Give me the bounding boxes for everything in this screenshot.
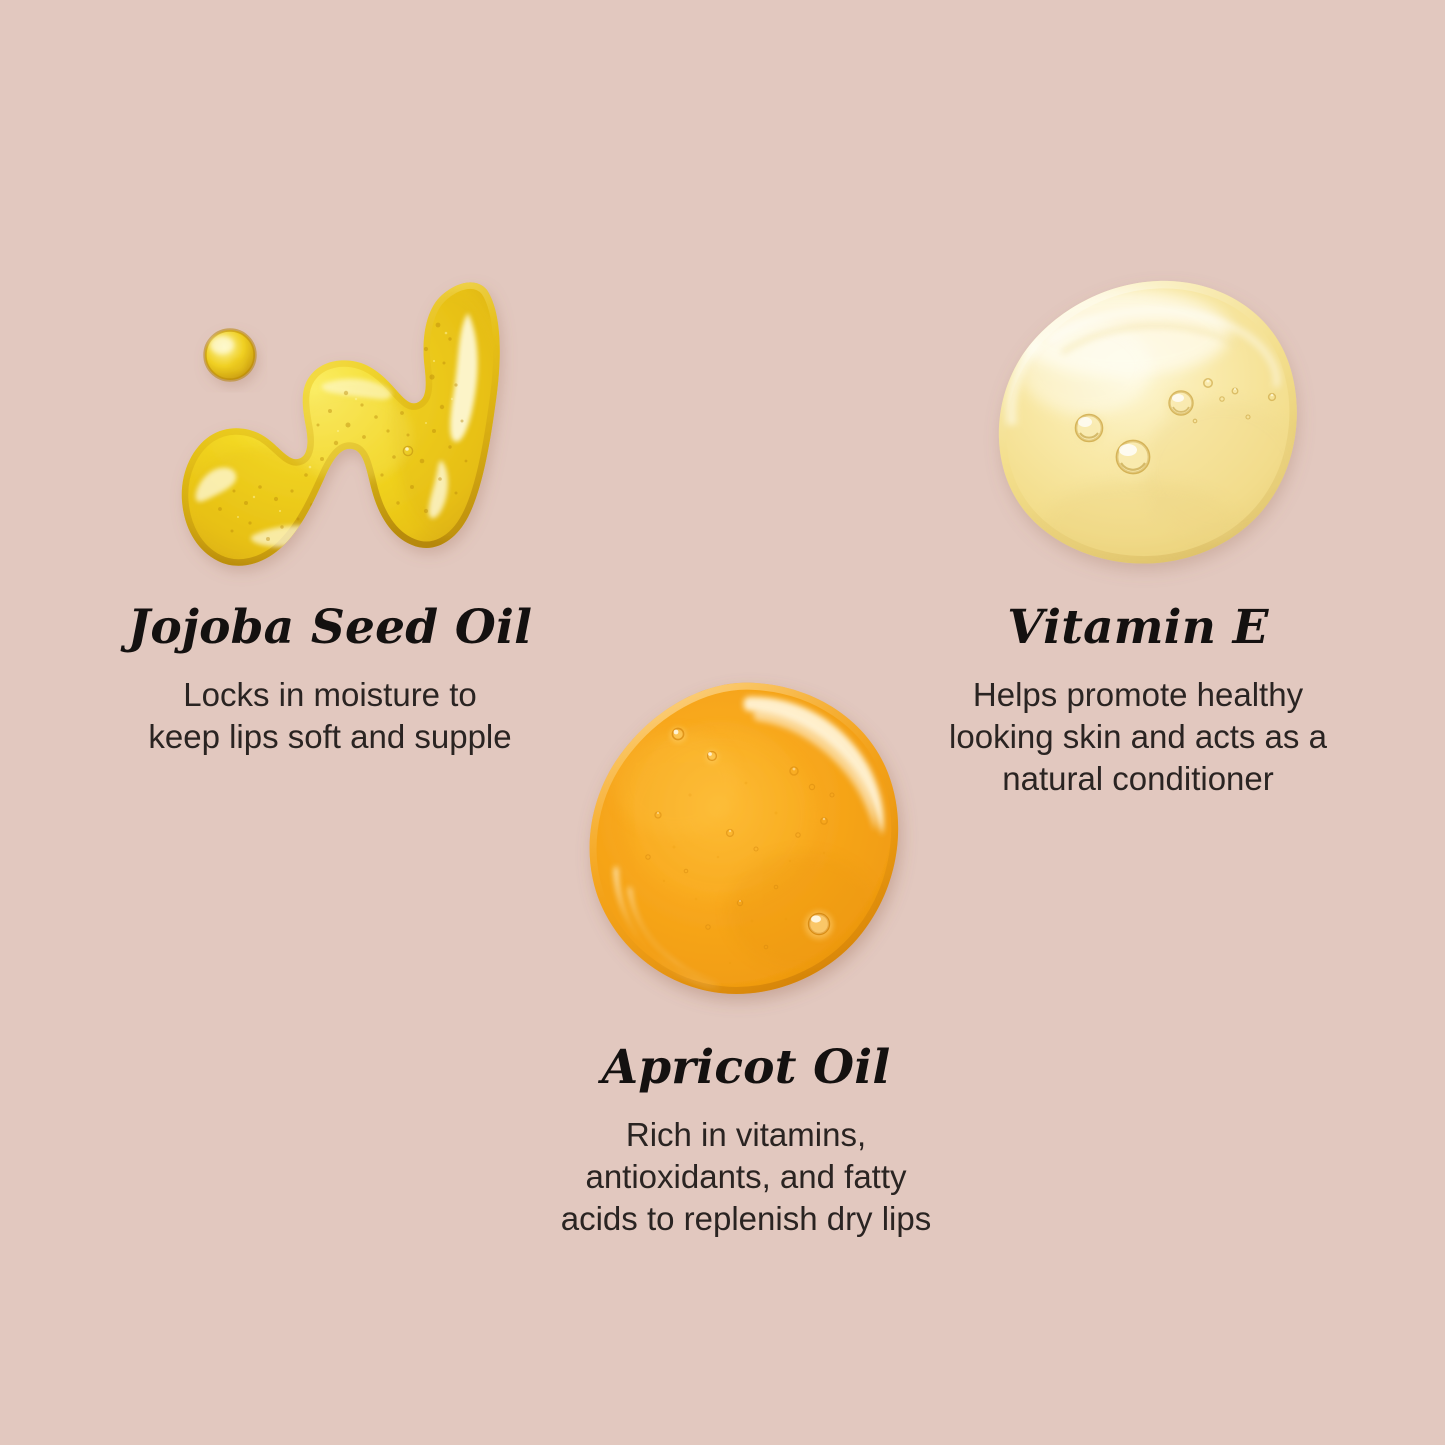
apricot-description: Rich in vitamins, antioxidants, and fatt…: [476, 1114, 1016, 1240]
vitamin-e-description: Helps promote healthy looking skin and a…: [868, 674, 1408, 800]
vitamin-e-description-line-1: Helps promote healthy: [868, 674, 1408, 716]
vitamin-e-description-line-2: looking skin and acts as a: [868, 716, 1408, 758]
apricot-title: Apricot Oil: [476, 1040, 1016, 1096]
jojoba-card: Jojoba Seed Oil Locks in moisture to kee…: [60, 600, 600, 758]
apricot-description-line-3: acids to replenish dry lips: [476, 1198, 1016, 1240]
jojoba-title: Jojoba Seed Oil: [60, 600, 600, 656]
apricot-description-line-2: antioxidants, and fatty: [476, 1156, 1016, 1198]
apricot-description-line-1: Rich in vitamins,: [476, 1114, 1016, 1156]
jojoba-oil-swatch: [150, 265, 520, 595]
vitamin-e-description-line-3: natural conditioner: [868, 758, 1408, 800]
jojoba-description-line-2: keep lips soft and supple: [60, 716, 600, 758]
apricot-oil-swatch: [580, 675, 910, 1005]
jojoba-description-line-1: Locks in moisture to: [60, 674, 600, 716]
apricot-card: Apricot Oil Rich in vitamins, antioxidan…: [476, 1040, 1016, 1240]
vitamin-e-title: Vitamin E: [868, 600, 1408, 656]
vitamin-e-oil-swatch: [990, 275, 1305, 570]
ingredient-benefits-panel: Jojoba Seed Oil Locks in moisture to kee…: [0, 0, 1445, 1445]
jojoba-description: Locks in moisture to keep lips soft and …: [60, 674, 600, 758]
vitamin-e-card: Vitamin E Helps promote healthy looking …: [868, 600, 1408, 800]
